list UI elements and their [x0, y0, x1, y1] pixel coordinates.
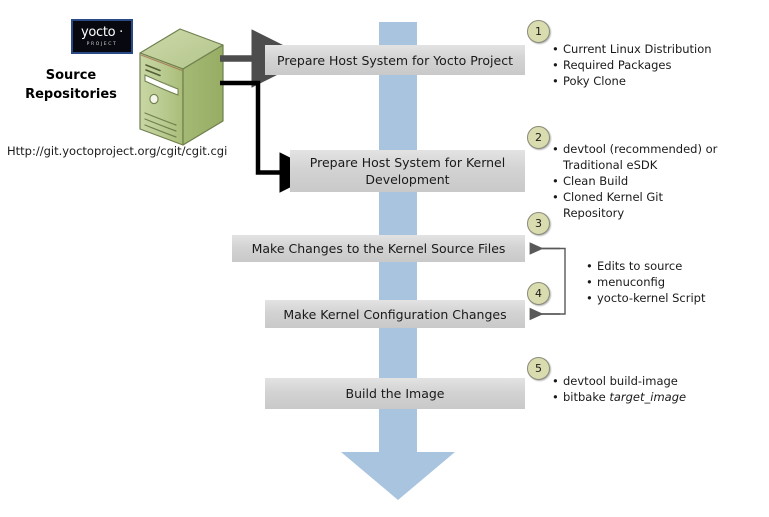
list-item: Cloned Kernel Git Repository [563, 189, 727, 221]
process-box-step-4-label: Make Kernel Configuration Changes [283, 306, 506, 323]
process-box-step-5-label: Build the Image [346, 385, 445, 402]
list-item: Edits to source [597, 258, 766, 274]
process-box-step-3-label: Make Changes to the Kernel Source Files [252, 240, 506, 257]
list-item: Required Packages [563, 57, 767, 73]
step-number-4: 4 [527, 282, 550, 305]
list-item: Poky Clone [563, 73, 767, 89]
step-number-5: 5 [527, 357, 550, 380]
step-number-3: 3 [527, 212, 550, 235]
step-number-5-text: 5 [535, 362, 542, 375]
process-box-step-2-label: Prepare Host System for Kernel Developme… [310, 154, 505, 188]
bitbake-target-image-italic: target_image [609, 390, 686, 404]
process-box-step-5[interactable]: Build the Image [265, 378, 525, 409]
list-item: devtool (recommended) or Traditional eSD… [563, 141, 727, 173]
step-number-3-text: 3 [535, 217, 542, 230]
list-item: bitbake target_image [563, 389, 752, 405]
list-item: menuconfig [597, 274, 766, 290]
step-2-bullet-list: devtool (recommended) or Traditional eSD… [552, 141, 727, 221]
list-item: Current Linux Distribution [563, 41, 767, 57]
step-number-1: 1 [527, 20, 550, 43]
list-item: devtool build-image [563, 373, 752, 389]
step-number-1-text: 1 [535, 25, 542, 38]
process-box-step-1-label: Prepare Host System for Yocto Project [277, 52, 513, 69]
bitbake-command-prefix: bitbake [563, 390, 609, 404]
step-1-bullet-list: Current Linux Distribution Required Pack… [552, 41, 767, 89]
step-number-2-text: 2 [535, 131, 542, 144]
process-box-step-2-line1: Prepare Host System for Kernel [310, 155, 505, 170]
step-number-4-text: 4 [535, 287, 542, 300]
process-box-step-2-line2: Development [365, 172, 449, 187]
process-box-step-3[interactable]: Make Changes to the Kernel Source Files [232, 235, 525, 262]
step-5-bullet-list: devtool build-image bitbake target_image [552, 373, 752, 405]
list-item: yocto-kernel Script [597, 290, 766, 306]
steps-3-4-bullet-list: Edits to source menuconfig yocto-kernel … [586, 258, 766, 306]
process-box-step-2[interactable]: Prepare Host System for Kernel Developme… [290, 150, 525, 192]
process-box-step-4[interactable]: Make Kernel Configuration Changes [265, 300, 525, 328]
process-box-step-1[interactable]: Prepare Host System for Yocto Project [265, 45, 525, 75]
diagram-canvas: yocto · PROJECT Source Repositories Http… [0, 0, 769, 517]
list-item: Clean Build [563, 173, 727, 189]
step-number-2: 2 [527, 126, 550, 149]
